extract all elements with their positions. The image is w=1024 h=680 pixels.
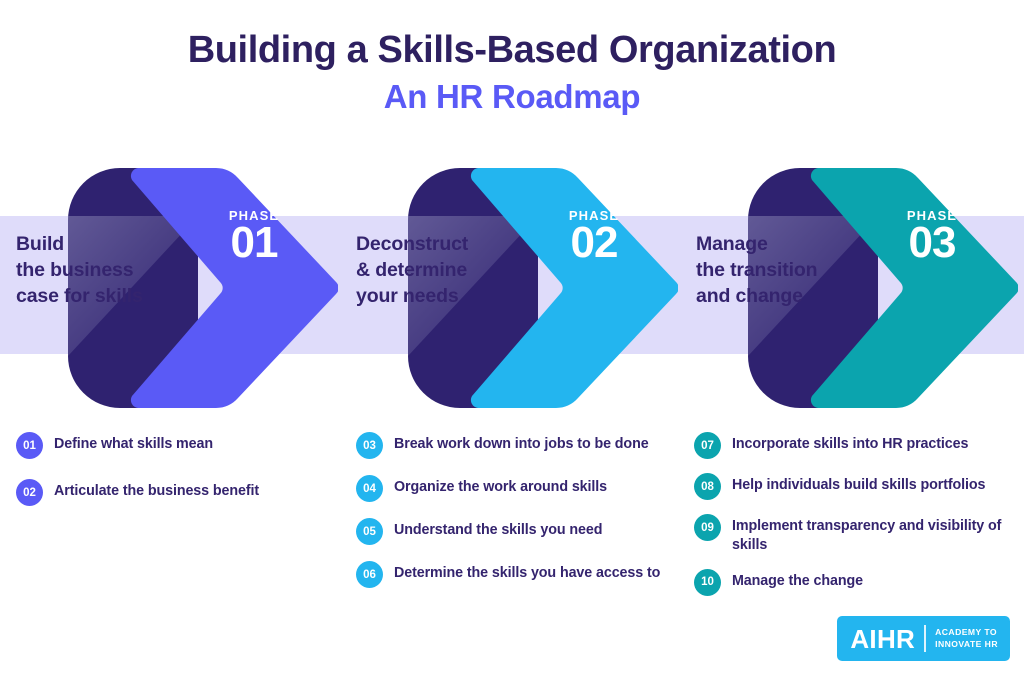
step-number-badge: 06 — [356, 561, 383, 588]
phase-caption-line: the transition — [696, 258, 817, 284]
step-number-badge: 07 — [694, 432, 721, 459]
phase-caption-line: and change — [696, 284, 817, 310]
step-number-badge: 04 — [356, 475, 383, 502]
step-number-badge: 01 — [16, 432, 43, 459]
list-item: 02 Articulate the business benefit — [16, 479, 336, 506]
list-item: 05 Understand the skills you need — [356, 518, 686, 545]
list-item: 01 Define what skills mean — [16, 432, 336, 459]
step-number-badge: 09 — [694, 514, 721, 541]
step-list-column-1: 01 Define what skills mean 02 Articulate… — [16, 432, 336, 526]
list-item: 08 Help individuals build skills portfol… — [694, 473, 1016, 500]
logo-tagline-line2: INNOVATE HR — [935, 639, 998, 650]
list-item: 04 Organize the work around skills — [356, 475, 686, 502]
step-number-badge: 08 — [694, 473, 721, 500]
step-text: Articulate the business benefit — [54, 479, 259, 501]
logo-wordmark: AIHR — [850, 626, 915, 652]
logo-divider — [924, 625, 926, 652]
list-item: 09 Implement transparency and visibility… — [694, 514, 1016, 555]
step-number-badge: 03 — [356, 432, 383, 459]
list-item: 10 Manage the change — [694, 569, 1016, 596]
step-text: Implement transparency and visibility of… — [732, 514, 1016, 555]
step-number-badge: 10 — [694, 569, 721, 596]
list-item: 06 Determine the skills you have access … — [356, 561, 686, 588]
phase-caption-line: Build — [16, 232, 143, 258]
phase-caption-line: the business — [16, 258, 143, 284]
step-text: Understand the skills you need — [394, 518, 602, 540]
phase-caption-line: & determine — [356, 258, 468, 284]
step-text: Manage the change — [732, 569, 863, 591]
phase-caption-3: Manage the transition and change — [696, 232, 817, 310]
step-text: Define what skills mean — [54, 432, 213, 454]
step-text: Determine the skills you have access to — [394, 561, 660, 583]
logo-tagline-line1: ACADEMY TO — [935, 627, 998, 638]
phase-caption-line: Deconstruct — [356, 232, 468, 258]
phase-caption-2: Deconstruct & determine your needs — [356, 232, 468, 310]
phase-caption-line: Manage — [696, 232, 817, 258]
logo-tagline: ACADEMY TO INNOVATE HR — [935, 627, 998, 650]
step-text: Help individuals build skills portfolios — [732, 473, 985, 495]
step-number-badge: 05 — [356, 518, 383, 545]
aihr-logo: AIHR ACADEMY TO INNOVATE HR — [837, 616, 1010, 661]
phase-caption-line: case for skills — [16, 284, 143, 310]
phase-caption-1: Build the business case for skills — [16, 232, 143, 310]
step-text: Incorporate skills into HR practices — [732, 432, 968, 454]
list-item: 07 Incorporate skills into HR practices — [694, 432, 1016, 459]
step-text: Break work down into jobs to be done — [394, 432, 649, 454]
phase-row: Build the business case for skills Decon… — [0, 0, 1024, 420]
list-item: 03 Break work down into jobs to be done — [356, 432, 686, 459]
step-list-column-3: 07 Incorporate skills into HR practices … — [694, 432, 1016, 610]
step-list-column-2: 03 Break work down into jobs to be done … — [356, 432, 686, 604]
step-text: Organize the work around skills — [394, 475, 607, 497]
step-number-badge: 02 — [16, 479, 43, 506]
phase-caption-line: your needs — [356, 284, 468, 310]
